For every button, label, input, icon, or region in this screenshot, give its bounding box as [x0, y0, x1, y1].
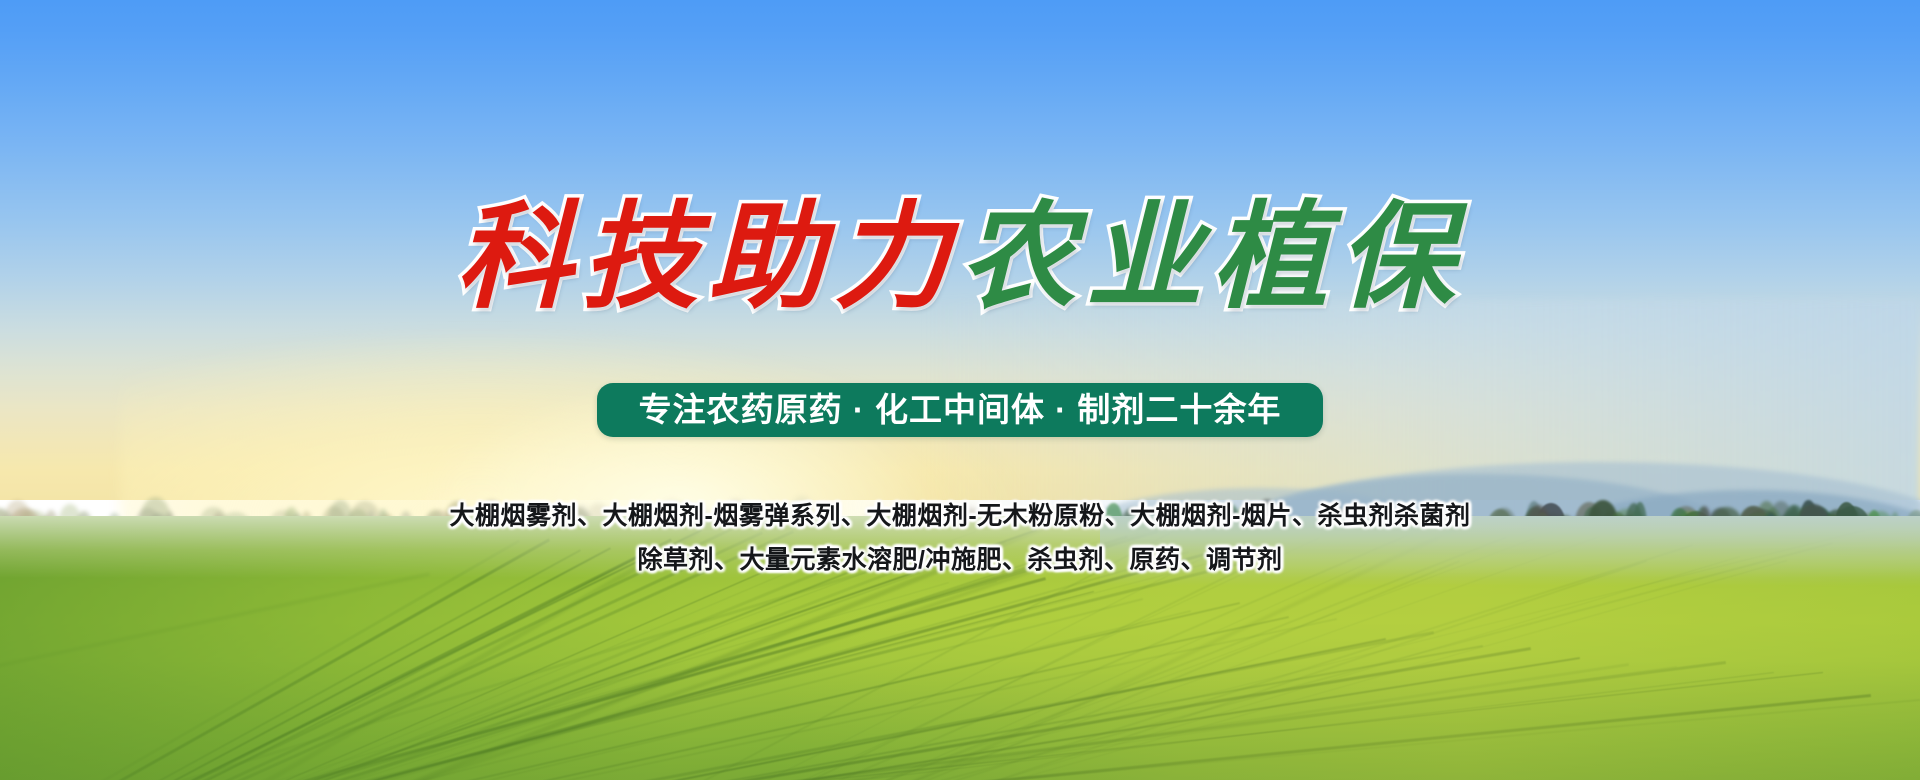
- tagline-badge: 专注农药原药 · 化工中间体 · 制剂二十余年: [597, 383, 1324, 437]
- hero-banner: 科技助力农业植保 专注农药原药 · 化工中间体 · 制剂二十余年 大棚烟雾剂、大…: [0, 0, 1920, 780]
- headline-part-red: 科技助力: [456, 188, 960, 327]
- page-title: 科技助力农业植保: [0, 188, 1920, 327]
- product-lines: 大棚烟雾剂、大棚烟剂-烟雾弹系列、大棚烟剂-无木粉原粉、大棚烟剂-烟片、杀虫剂杀…: [0, 494, 1920, 582]
- product-line-2: 除草剂、大量元素水溶肥/冲施肥、杀虫剂、原药、调节剂: [0, 538, 1920, 582]
- tagline-container: 专注农药原药 · 化工中间体 · 制剂二十余年: [0, 383, 1920, 437]
- headline-part-green: 农业植保: [960, 188, 1464, 327]
- field-vignette: [0, 660, 1920, 780]
- product-line-1: 大棚烟雾剂、大棚烟剂-烟雾弹系列、大棚烟剂-无木粉原粉、大棚烟剂-烟片、杀虫剂杀…: [0, 494, 1920, 538]
